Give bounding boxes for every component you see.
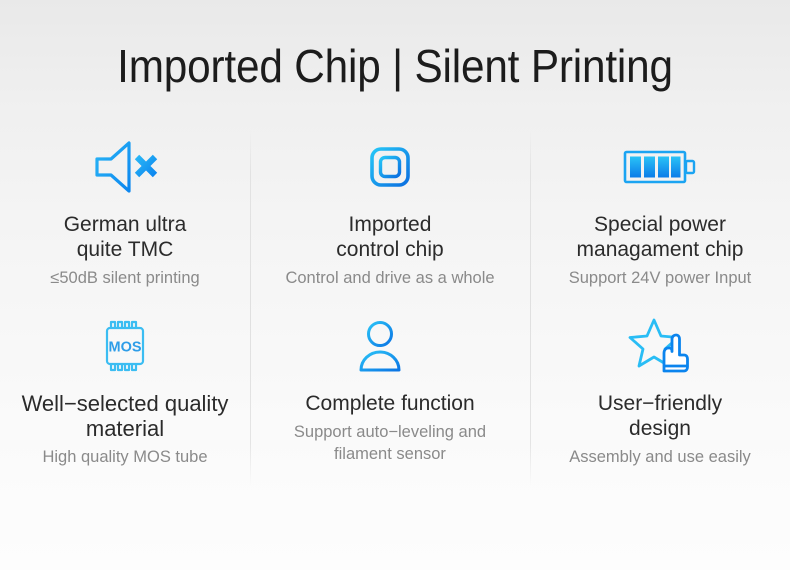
feature-title: Complete function [305, 391, 474, 416]
feature-title: Special power managament chip [577, 212, 744, 262]
feature-title: Well−selected quality material [22, 391, 229, 441]
page-title-container: Imported Chip | Silent Printing [0, 38, 790, 94]
feature-cell-well-selected-quality-material: MOS Well−selected quality material High … [0, 307, 250, 486]
cpu-chip-icon [359, 136, 421, 198]
feature-cell-user-friendly-design: User−friendly design Assembly and use ea… [530, 307, 790, 486]
feature-cell-imported-control-chip: Imported control chip Control and drive … [250, 128, 530, 307]
star-thumbs-up-icon [628, 315, 692, 377]
feature-subtitle: ≤50dB silent printing [50, 267, 199, 289]
feature-grid: German ultra quite TMC ≤50dB silent prin… [0, 128, 790, 486]
feature-banner: Imported Chip | Silent Printing Ge [0, 0, 790, 570]
feature-subtitle: Control and drive as a whole [285, 267, 494, 289]
feature-cell-complete-function: Complete function Support auto−leveling … [250, 307, 530, 486]
muted-speaker-icon [89, 136, 161, 198]
feature-cell-special-power-managament-chip: Special power managament chip Support 24… [530, 128, 790, 307]
user-profile-icon [357, 315, 423, 377]
feature-subtitle: Support auto−leveling and filament senso… [294, 421, 486, 465]
feature-subtitle: Assembly and use easily [569, 446, 751, 468]
feature-subtitle: Support 24V power Input [569, 267, 752, 289]
mos-chip-label: MOS [108, 340, 141, 356]
feature-title: User−friendly design [598, 391, 722, 441]
feature-subtitle: High quality MOS tube [42, 446, 207, 468]
battery-icon [623, 136, 697, 198]
feature-title: German ultra quite TMC [64, 212, 187, 262]
feature-cell-german-ultra-quite-tmc: German ultra quite TMC ≤50dB silent prin… [0, 128, 250, 307]
feature-title: Imported control chip [336, 212, 443, 262]
mos-chip-icon: MOS [96, 315, 154, 377]
page-title: Imported Chip | Silent Printing [32, 38, 759, 94]
